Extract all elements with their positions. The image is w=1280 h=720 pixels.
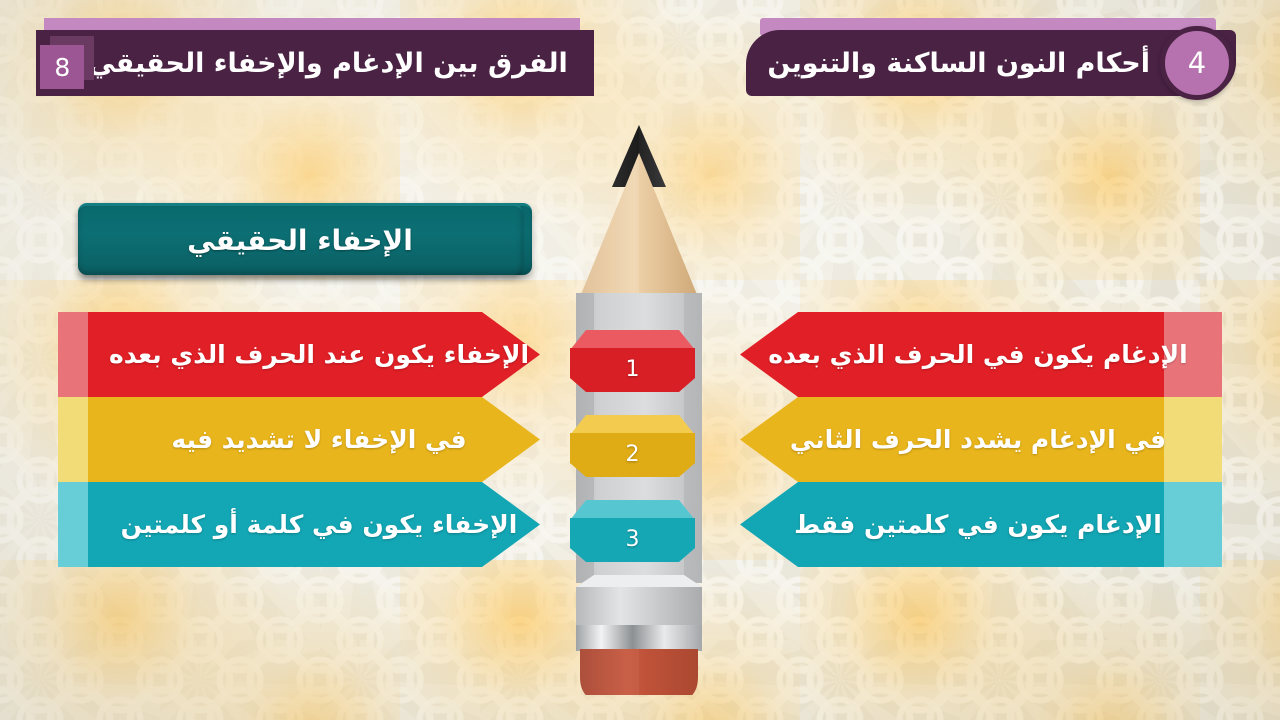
center-block-1-label: 1 [626, 359, 640, 381]
column-right-row-2-label: في الإدغام يشدد الحرف الثاني [790, 425, 1166, 454]
arrow-text-container: الإدغام يكون في كلمتين فقط [740, 482, 1222, 567]
topic-number-badge: 8 [44, 41, 88, 85]
center-block-1: 1 [570, 330, 695, 392]
column-left-row-3: الإخفاء يكون في كلمة أو كلمتين [58, 482, 540, 567]
arrow-text-container: الإخفاء يكون في كلمة أو كلمتين [58, 482, 540, 567]
column-right-row-3: الإدغام يكون في كلمتين فقط [740, 482, 1222, 567]
column-left-row-1-label: الإخفاء يكون عند الحرف الذي بعده [109, 340, 529, 369]
column-right-row-1: الإدغام يكون في الحرف الذي بعده [740, 312, 1222, 397]
lesson-number-badge-label: 4 [1188, 46, 1206, 80]
block-front-face: 3 [570, 518, 695, 562]
center-block-3-label: 3 [626, 529, 640, 551]
topic-number-badge-label: 8 [54, 55, 70, 80]
topic-number-badge-face: 8 [40, 45, 84, 89]
column-right-row-2: في الإدغام يشدد الحرف الثاني [740, 397, 1222, 482]
center-block-3: 3 [570, 500, 695, 562]
header-left-title: الفرق بين الإدغام والإخفاء الحقيقي [88, 50, 567, 77]
arrow-text-container: الإدغام يكون في الحرف الذي بعده [740, 312, 1222, 397]
block-top-face [570, 500, 695, 520]
center-block-2-label: 2 [626, 444, 640, 466]
column-left-row-3-label: الإخفاء يكون في كلمة أو كلمتين [121, 510, 518, 539]
arrow-text-container: في الإخفاء لا تشديد فيه [58, 397, 540, 482]
slide-canvas: أحكام النون الساكنة والتنوين 4 الفرق بين… [0, 0, 1280, 720]
column-left-row-1: الإخفاء يكون عند الحرف الذي بعده [58, 312, 540, 397]
column-left-heading-label: الإخفاء الحقيقي [187, 224, 413, 257]
header-left-bar: الفرق بين الإدغام والإخفاء الحقيقي 8 [36, 30, 594, 96]
arrow-text-container: في الإدغام يشدد الحرف الثاني [740, 397, 1222, 482]
column-left-heading-box: الإخفاء الحقيقي [78, 203, 522, 275]
block-top-face [570, 330, 695, 350]
center-block-2: 2 [570, 415, 695, 477]
block-top-face [570, 415, 695, 435]
column-right-row-1-label: الإدغام يكون في الحرف الذي بعده [768, 340, 1188, 369]
block-front-face: 2 [570, 433, 695, 477]
header-right-title: أحكام النون الساكنة والتنوين [767, 50, 1150, 77]
block-front-face: 1 [570, 348, 695, 392]
column-right-row-3-label: الإدغام يكون في كلمتين فقط [794, 510, 1162, 539]
arrow-text-container: الإخفاء يكون عند الحرف الذي بعده [58, 312, 540, 397]
lesson-number-badge: 4 [1160, 26, 1234, 100]
pencil-icon [554, 125, 724, 695]
column-left-row-2: في الإخفاء لا تشديد فيه [58, 397, 540, 482]
column-left-row-2-label: في الإخفاء لا تشديد فيه [171, 425, 466, 454]
